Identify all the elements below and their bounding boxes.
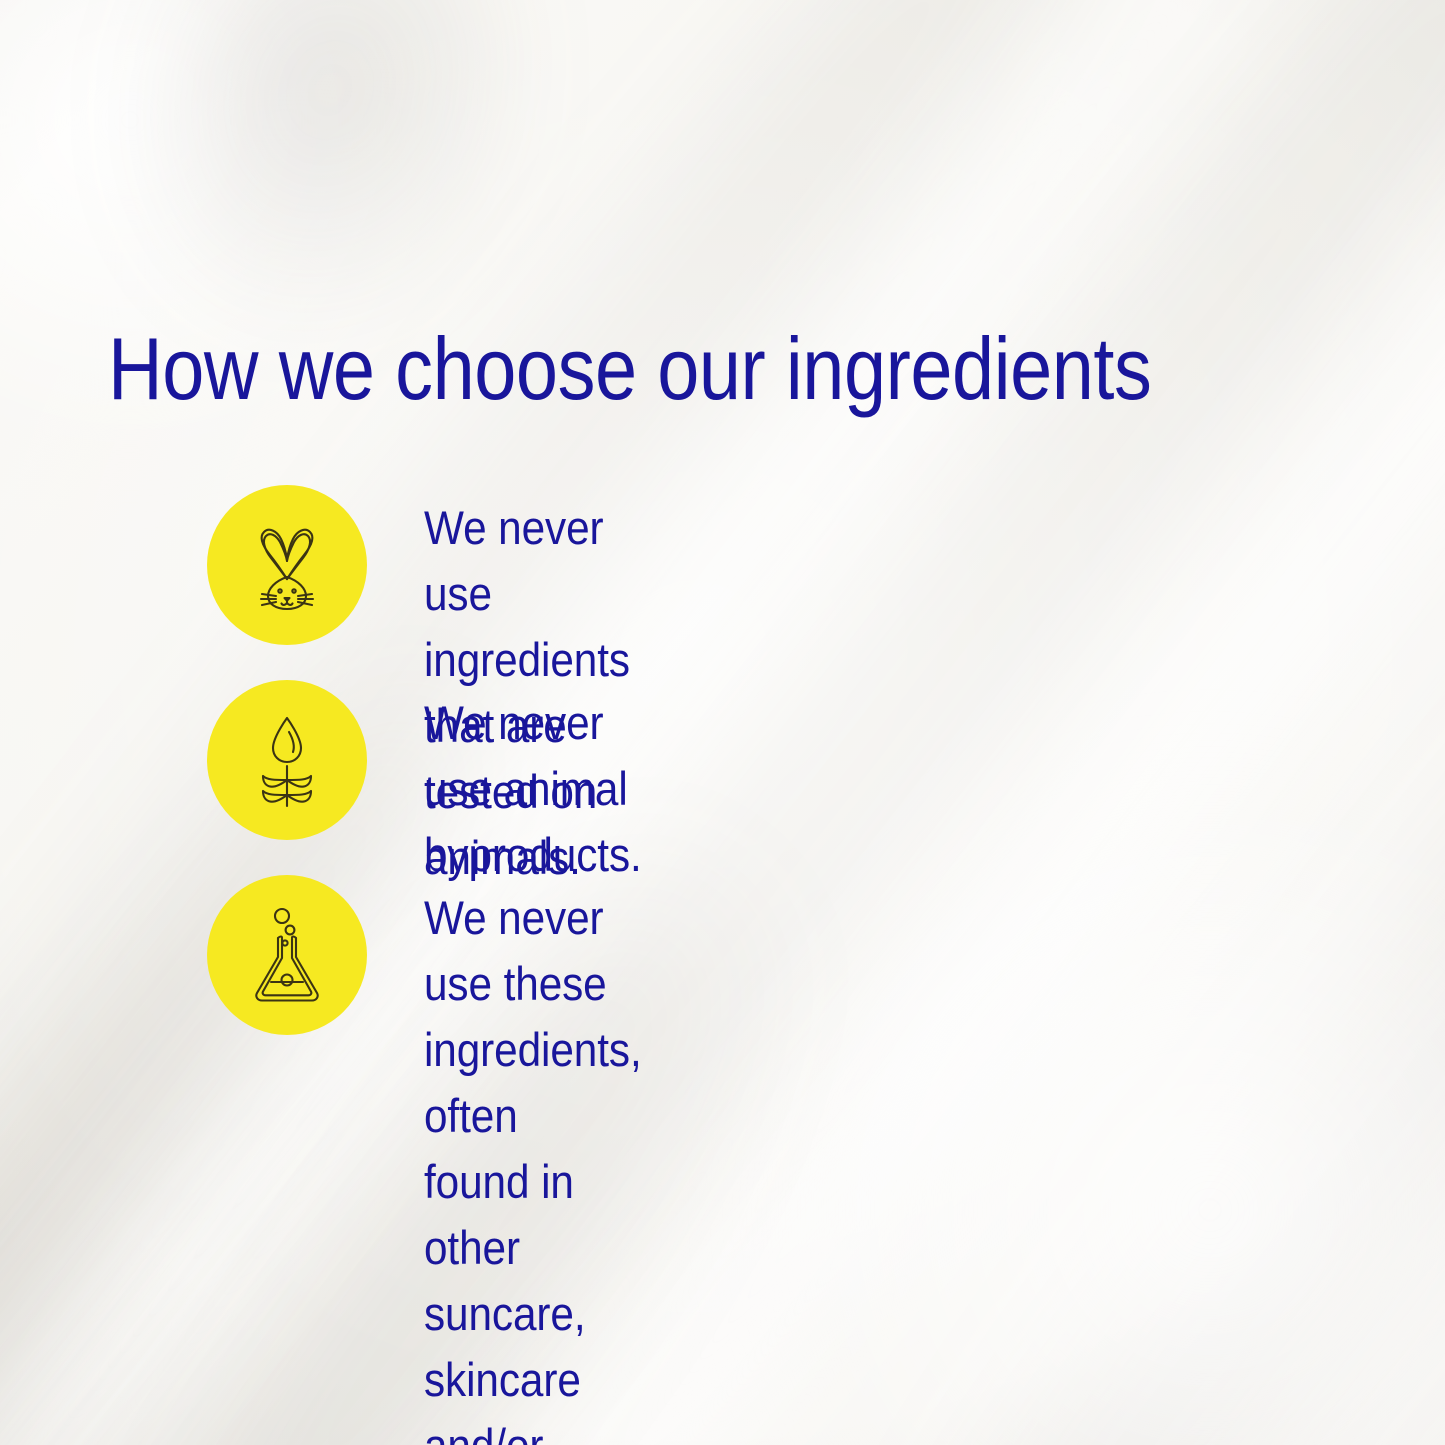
ingredients-info-panel: How we choose our ingredients [0, 0, 1445, 1445]
erlenmeyer-flask-bubbles-icon [207, 875, 367, 1035]
list-item: We never use animal byproducts. [207, 680, 666, 888]
page-title: How we choose our ingredients [108, 325, 1151, 413]
feature-headline: We never use these ingredients, often fo… [424, 885, 642, 1445]
droplet-plant-leaves-icon [207, 680, 367, 840]
feature-headline: We never use animal byproducts. [424, 690, 642, 888]
bunny-heart-ears-icon [207, 485, 367, 645]
list-item-text: We never use these ingredients, often fo… [424, 875, 666, 1445]
list-item: We never use these ingredients, often fo… [207, 875, 666, 1445]
list-item-text: We never use animal byproducts. [424, 680, 666, 888]
